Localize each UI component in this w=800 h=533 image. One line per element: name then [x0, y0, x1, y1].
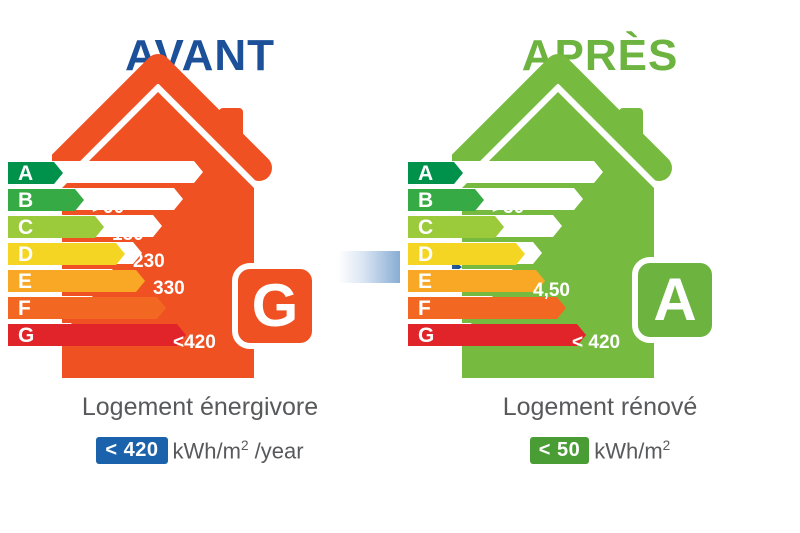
- scale-bar-D: D: [408, 243, 525, 266]
- scale-letter-F: F: [418, 297, 431, 320]
- panel-before-title: AVANT: [0, 34, 400, 78]
- scale-letter-G: G: [418, 324, 434, 347]
- after-rating-badge: A: [632, 257, 718, 343]
- threshold-label-3: 330: [153, 278, 185, 299]
- scale-letter-D: D: [418, 243, 433, 266]
- after-consumption-chip: < 50: [530, 437, 589, 464]
- scale-bar-E: E: [408, 270, 545, 293]
- scale-bar-A: A: [408, 162, 463, 185]
- threshold-label-4: <420: [173, 332, 216, 353]
- scale-bar-F: F: [8, 297, 166, 320]
- after-house-and-scale-graphic: A B C D E: [400, 105, 800, 390]
- panel-after: APRÈS A: [400, 0, 800, 533]
- threshold-label-0: >50: [492, 197, 524, 218]
- scale-bar-A: A: [8, 162, 63, 185]
- scale-bar-G: G: [8, 324, 186, 347]
- scale-letter-G: G: [18, 324, 34, 347]
- threshold-label-2: < 420: [572, 332, 620, 353]
- scale-letter-F: F: [18, 297, 31, 320]
- scale-bar-D: D: [8, 243, 125, 266]
- scale-bar-B: B: [408, 189, 484, 212]
- scale-letter-C: C: [18, 216, 33, 239]
- before-consumption-chip: < 420: [96, 437, 167, 464]
- before-rating-badge: G: [232, 263, 318, 349]
- after-unit-prefix: kWh/m: [594, 438, 662, 463]
- scale-letter-D: D: [18, 243, 33, 266]
- threshold-label-2: 230: [133, 251, 165, 272]
- scale-letter-A: A: [418, 162, 433, 185]
- before-unit-exponent: 2: [241, 438, 249, 453]
- threshold-label-1: 150: [112, 224, 144, 245]
- before-unit-suffix: /year: [249, 438, 304, 463]
- after-unit-exponent: 2: [663, 438, 671, 453]
- after-unit-text: kWh/m2: [594, 439, 670, 462]
- scale-letter-A: A: [18, 162, 33, 185]
- after-caption: Logement rénové: [400, 392, 800, 422]
- before-unit-text: kWh/m2 /year: [173, 439, 304, 462]
- scale-bar-C: C: [408, 216, 504, 239]
- scale-bar-G: G: [408, 324, 586, 347]
- before-unit-prefix: kWh/m: [173, 438, 241, 463]
- scale-letter-E: E: [18, 270, 32, 293]
- scale-bar-C: C: [8, 216, 104, 239]
- scale-bar-E: E: [8, 270, 145, 293]
- before-unit-line: < 420 kWh/m2 /year: [0, 437, 400, 464]
- energy-rating-comparison-diagram: AVANT: [0, 0, 800, 533]
- panel-after-stage: A B C D E: [400, 105, 800, 390]
- scale-letter-E: E: [418, 270, 432, 293]
- scale-letter-B: B: [418, 189, 433, 212]
- scale-letter-B: B: [18, 189, 33, 212]
- threshold-label-1: 4,50: [533, 280, 570, 301]
- scale-letter-C: C: [418, 216, 433, 239]
- scale-bar-B: B: [8, 189, 84, 212]
- panel-after-title: APRÈS: [400, 34, 800, 78]
- threshold-label-0: >90: [92, 197, 124, 218]
- after-unit-line: < 50 kWh/m2: [400, 437, 800, 464]
- before-caption: Logement énergivore: [0, 392, 400, 422]
